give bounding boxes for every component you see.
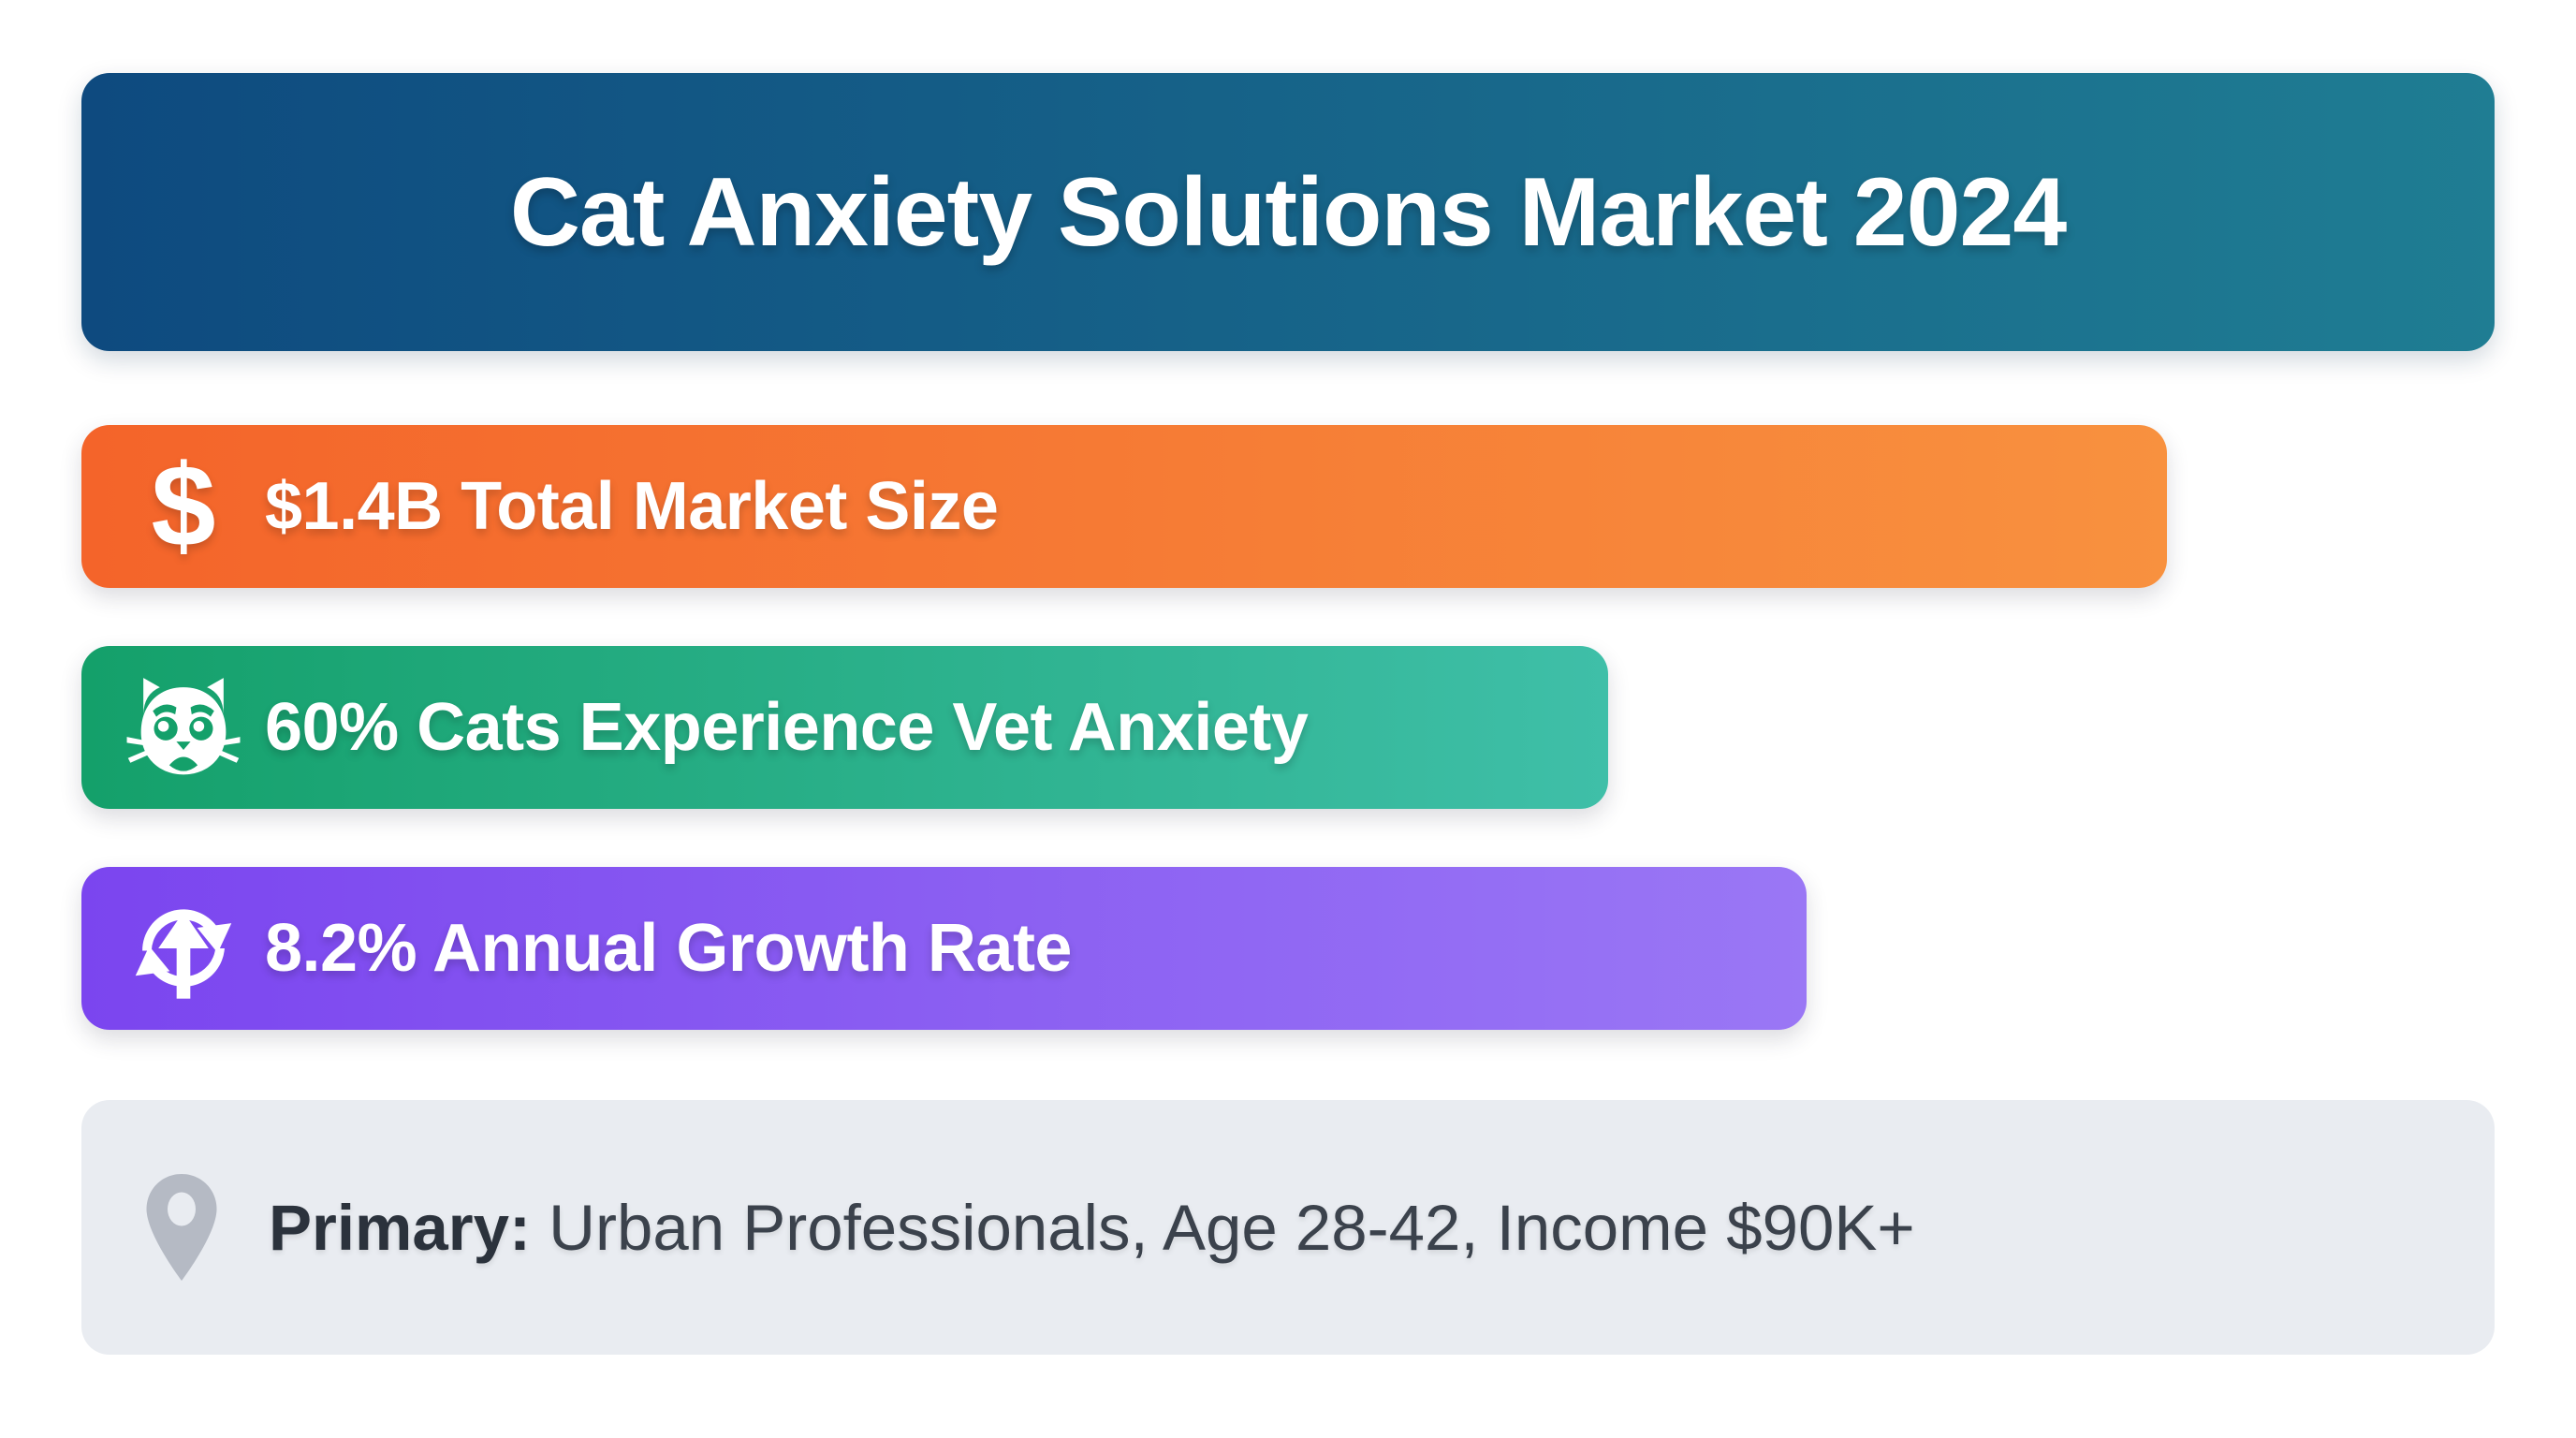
stat-label-vet-anxiety: 60% Cats Experience Vet Anxiety: [265, 694, 1308, 761]
map-pin-icon: [130, 1171, 233, 1284]
audience-description: Primary: Urban Professionals, Age 28-42,…: [269, 1196, 1915, 1260]
stat-label-market-size: $1.4B Total Market Size: [265, 473, 998, 540]
stat-label-growth-rate: 8.2% Annual Growth Rate: [265, 915, 1072, 982]
stat-bar-market-size[interactable]: $ $1.4B Total Market Size: [81, 425, 2167, 588]
worried-cat-face-icon: [123, 667, 244, 788]
stat-bar-list: $ $1.4B Total Market Size: [81, 425, 2495, 1030]
growth-cycle-arrow-icon: [123, 888, 244, 1009]
stat-bar-growth-rate[interactable]: 8.2% Annual Growth Rate: [81, 867, 1807, 1030]
infographic-root: Cat Anxiety Solutions Market 2024 $ $1.4…: [0, 0, 2576, 1438]
header-banner: Cat Anxiety Solutions Market 2024: [81, 73, 2495, 351]
stat-bar-vet-anxiety[interactable]: 60% Cats Experience Vet Anxiety: [81, 646, 1608, 809]
audience-label-rest: Urban Professionals, Age 28-42, Income $…: [531, 1192, 1915, 1264]
dollar-sign-glyph: $: [152, 448, 216, 565]
audience-label-bold: Primary:: [269, 1192, 531, 1264]
audience-panel: Primary: Urban Professionals, Age 28-42,…: [81, 1100, 2495, 1355]
page-title: Cat Anxiety Solutions Market 2024: [510, 164, 2066, 261]
dollar-sign-icon: $: [123, 446, 244, 567]
